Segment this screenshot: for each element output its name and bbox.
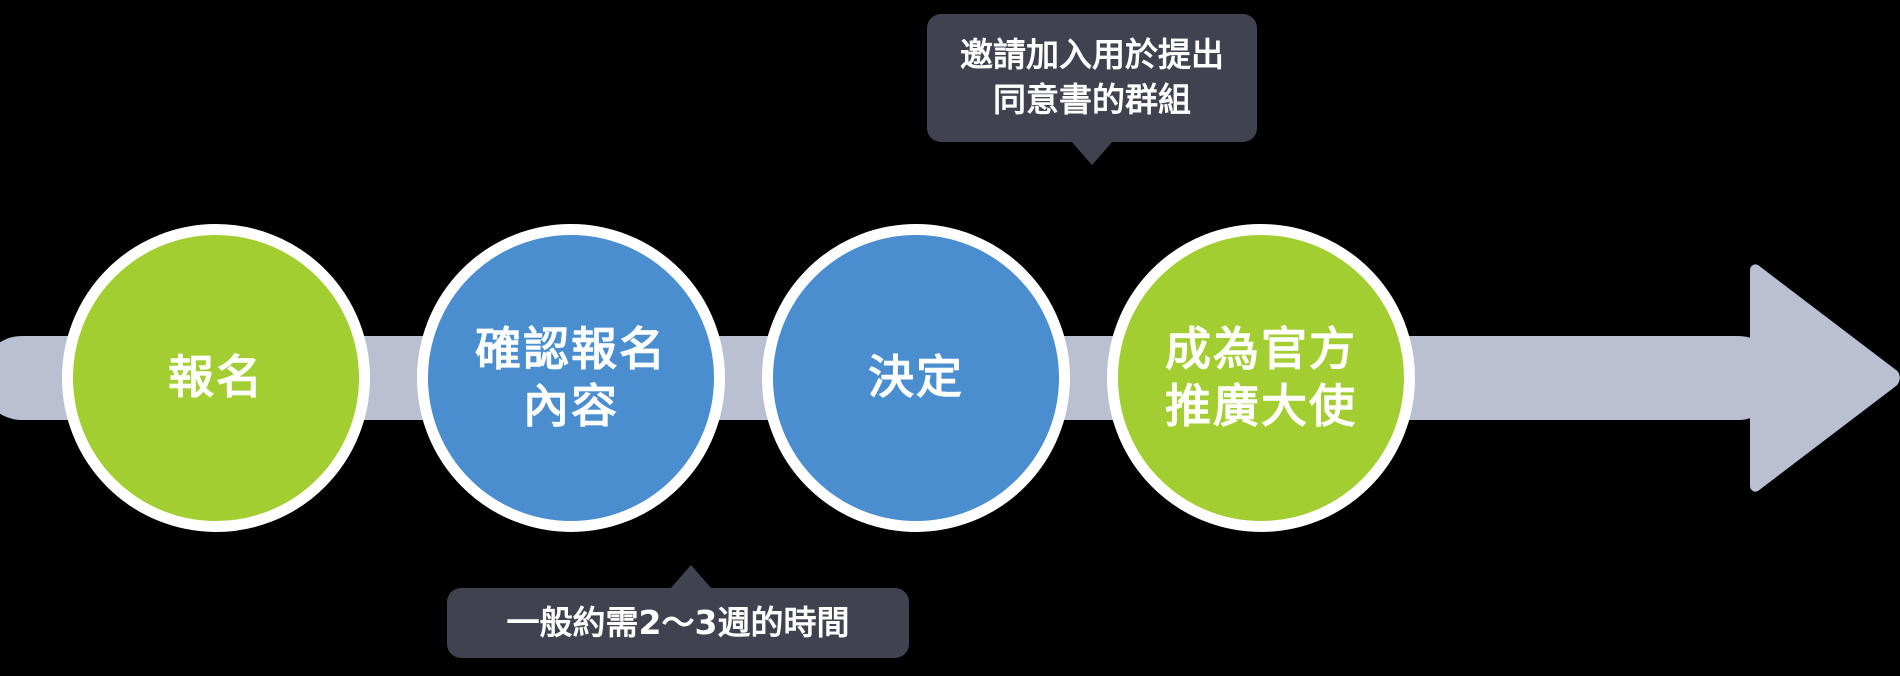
- step-label-4: 成為官方 推廣大使: [1151, 321, 1371, 435]
- callout-below-text: 一般約需2〜3週的時間: [507, 601, 850, 646]
- step-circle-4[interactable]: 成為官方 推廣大使: [1107, 224, 1415, 532]
- step-label-2: 確認報名 內容: [461, 321, 681, 435]
- step-circle-3[interactable]: 決定: [762, 224, 1070, 532]
- callout-above-step-3: 邀請加入用於提出 同意書的群組: [927, 14, 1257, 142]
- step-circle-1[interactable]: 報名: [62, 224, 370, 532]
- callout-tail-down-icon: [1071, 141, 1113, 165]
- step-circle-2[interactable]: 確認報名 內容: [417, 224, 725, 532]
- callout-above-text: 邀請加入用於提出 同意書的群組: [960, 33, 1224, 122]
- callout-below-step-2: 一般約需2〜3週的時間: [447, 588, 909, 658]
- process-arrow-head-icon: [1750, 230, 1900, 526]
- step-label-3: 決定: [854, 349, 978, 406]
- diagram-canvas: 報名 確認報名 內容 決定 成為官方 推廣大使 邀請加入用於提出 同意書的群組 …: [0, 0, 1900, 676]
- step-label-1: 報名: [154, 349, 278, 406]
- callout-tail-up-icon: [670, 565, 712, 589]
